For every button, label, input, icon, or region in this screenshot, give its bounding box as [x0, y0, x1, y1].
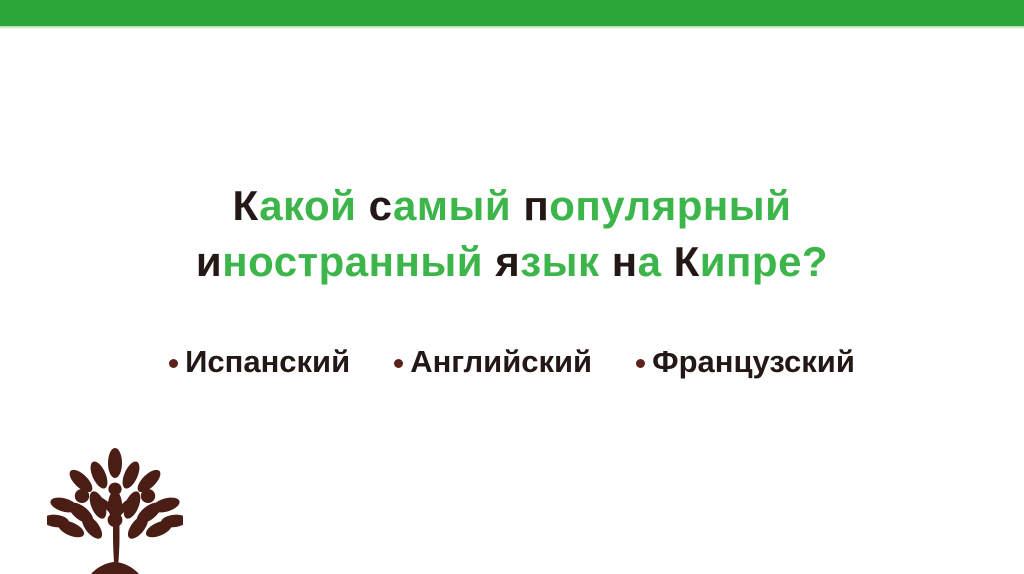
top-green-band — [0, 0, 1024, 26]
question-text-segment: н — [612, 238, 638, 285]
question-line-2: иностранный язык на Кипре? — [0, 234, 1024, 290]
answer-option-3[interactable]: Французский — [636, 342, 855, 382]
answer-option-label: Французский — [652, 342, 855, 382]
question-text-segment — [483, 238, 495, 285]
question-text-segment — [661, 238, 673, 285]
question-heading: Какой самый популярный иностранный язык … — [0, 178, 1024, 290]
answer-option-1[interactable]: Испанский — [169, 342, 350, 382]
slide-canvas: Какой самый популярный иностранный язык … — [0, 0, 1024, 574]
top-band-fade — [0, 26, 1024, 29]
tree-logo — [47, 443, 183, 574]
question-text-segment — [600, 238, 612, 285]
answer-option-2[interactable]: Английский — [394, 342, 592, 382]
bullet-icon — [394, 359, 403, 368]
question-text-segment: акой — [259, 182, 356, 229]
question-text-segment: К — [674, 238, 700, 285]
question-text-segment: К — [233, 182, 260, 229]
question-text-segment: ипре? — [700, 238, 828, 285]
question-text-segment: опулярный — [549, 182, 791, 229]
question-text-segment: и — [196, 238, 222, 285]
question-text-segment: п — [523, 182, 549, 229]
bullet-icon — [169, 359, 178, 368]
question-text-segment: амый — [393, 182, 511, 229]
question-text-segment — [357, 182, 369, 229]
question-line-1: Какой самый популярный — [0, 178, 1024, 234]
question-text-segment — [511, 182, 523, 229]
answer-option-label: Английский — [410, 342, 592, 382]
bullet-icon — [636, 359, 645, 368]
question-text-segment: ностранный — [222, 238, 483, 285]
question-text-segment: а — [638, 238, 662, 285]
answer-options-list: Испанский Английский Французский — [0, 342, 1024, 382]
answer-option-label: Испанский — [185, 342, 350, 382]
question-text-segment: я — [495, 238, 520, 285]
question-text-segment: зык — [520, 238, 599, 285]
question-text-segment: с — [369, 182, 393, 229]
